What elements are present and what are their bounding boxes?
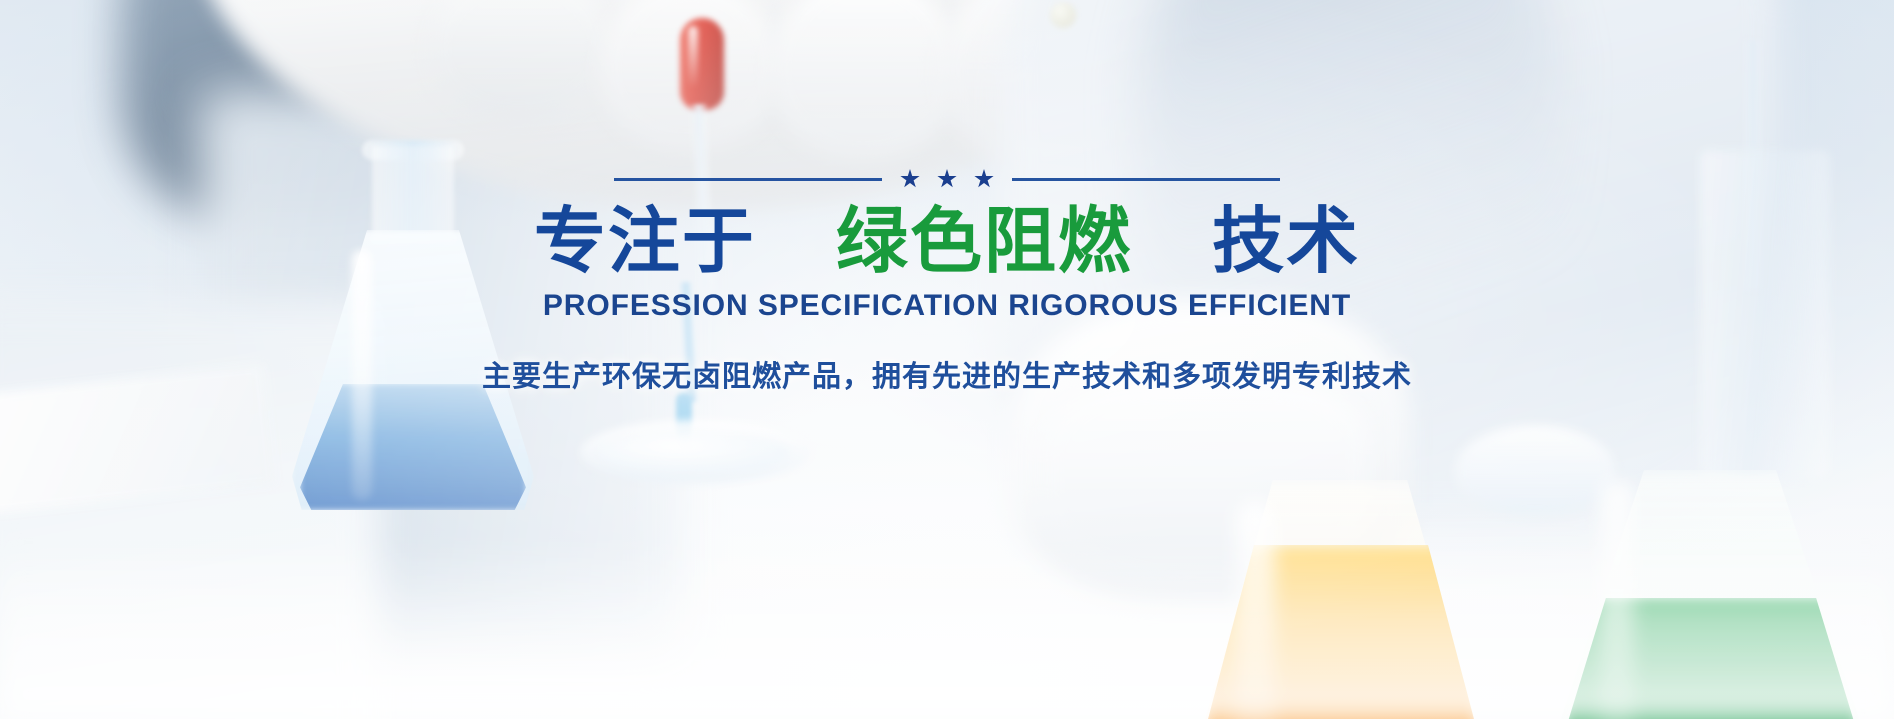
headline-part-2: 绿色阻燃 (836, 199, 1132, 283)
headline-part-3: 技术 (1212, 199, 1360, 283)
divider-line-right (1012, 178, 1280, 181)
star-icon (974, 169, 994, 189)
star-icon (937, 169, 957, 189)
decorative-divider (0, 168, 1894, 190)
page-title: 专注于 绿色阻燃 技术 (0, 203, 1894, 279)
headline-part-1: 专注于 (534, 199, 756, 283)
hero-text-block: 专注于 绿色阻燃 技术 PROFESSION SPECIFICATION RIG… (0, 168, 1894, 395)
divider-line-left (614, 178, 882, 181)
tagline-chinese: 主要生产环保无卤阻燃产品，拥有先进的生产技术和多项发明专利技术 (0, 353, 1894, 395)
star-icon (900, 169, 920, 189)
star-group (900, 169, 994, 189)
lab-hero-banner: 专注于 绿色阻燃 技术 PROFESSION SPECIFICATION RIG… (0, 0, 1894, 719)
subtitle-english: PROFESSION SPECIFICATION RIGOROUS EFFICI… (0, 289, 1894, 323)
